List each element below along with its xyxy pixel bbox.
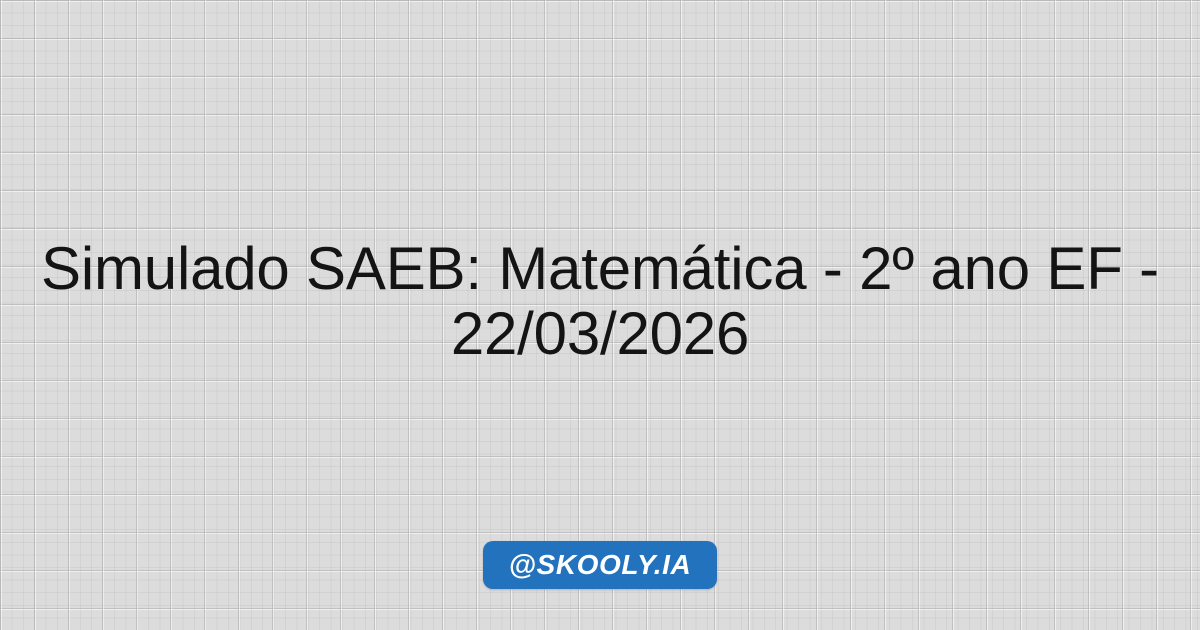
title-block: Simulado SAEB: Matemática - 2º ano EF - … [0,236,1200,366]
share-card: Simulado SAEB: Matemática - 2º ano EF - … [0,0,1200,630]
brand-handle-label: @SKOOLY.IA [509,551,692,579]
page-title: Simulado SAEB: Matemática - 2º ano EF - … [40,236,1160,366]
badge-container: @SKOOLY.IA [0,541,1200,589]
brand-handle-badge[interactable]: @SKOOLY.IA [483,541,718,589]
